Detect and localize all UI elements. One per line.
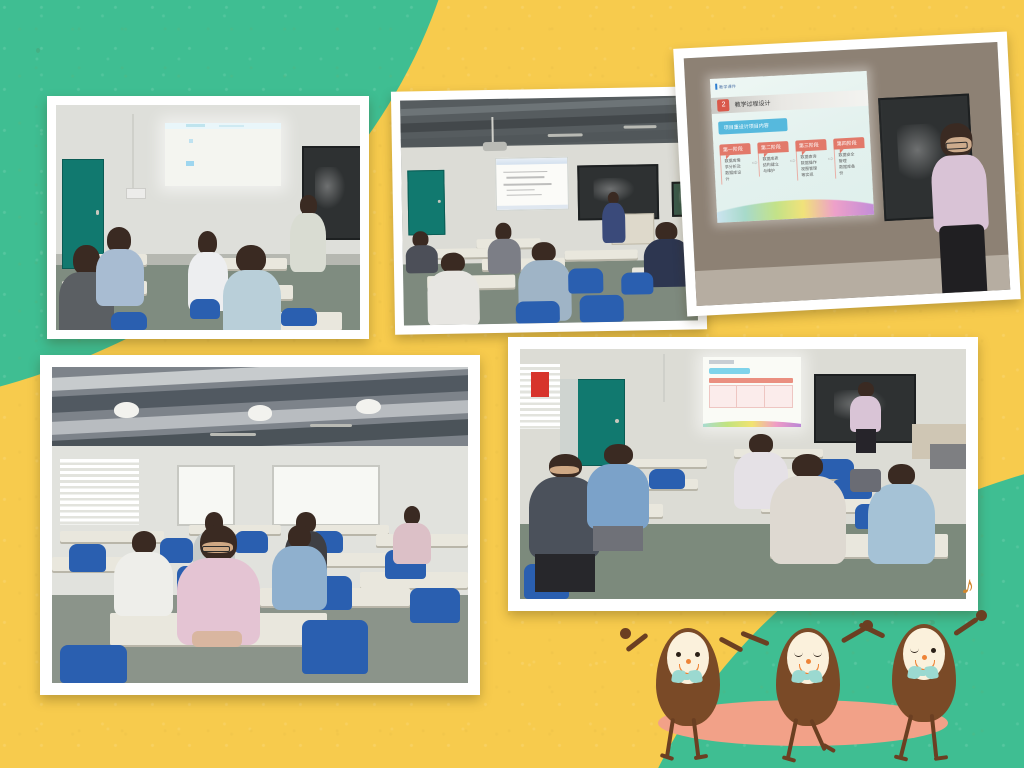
photo-bottom-left[interactable] bbox=[40, 355, 480, 695]
slide-section-number: 2 bbox=[717, 99, 730, 112]
slide-stage-body: 数据查询 数据操作 视图管理 等实现 bbox=[796, 151, 828, 182]
photo-top-right-image: 教学课件 2 教学过程设计 项目重设计项目内容 第一阶段 数据库需 求分析及 bbox=[684, 42, 1011, 306]
bowtie-icon bbox=[792, 670, 822, 683]
slide-stage-body: 数据库需 求分析及 数据库设 计 bbox=[720, 154, 752, 185]
mascot-eye-closed-icon bbox=[794, 652, 803, 657]
mascot-left bbox=[650, 618, 726, 726]
slide-stage-arrow: ⇨ bbox=[790, 157, 796, 165]
photo-bottom-left-image bbox=[52, 367, 468, 683]
photo-top-middle[interactable] bbox=[391, 86, 707, 334]
slide-section-header: 2 教学过程设计 bbox=[711, 90, 869, 114]
slide-logo: 教学课件 bbox=[715, 83, 737, 91]
mascot-eye-icon bbox=[676, 652, 681, 657]
slide-stage: 第三阶段 数据查询 数据操作 视图管理 等实现 bbox=[796, 140, 828, 182]
mascot-eye-icon bbox=[931, 648, 936, 653]
mascot-right bbox=[886, 614, 962, 722]
projected-slide: 教学课件 2 教学过程设计 项目重设计项目内容 第一阶段 数据库需 求分析及 bbox=[710, 71, 874, 223]
photo-bottom-right[interactable] bbox=[508, 337, 978, 611]
slide-stage-arrow: ⇨ bbox=[752, 159, 758, 167]
mascot-middle bbox=[770, 618, 846, 726]
photo-bottom-right-image bbox=[520, 349, 966, 599]
slide-stage: 第二阶段 数据库表 结构建立 与维护 bbox=[758, 142, 790, 184]
mascot-eye-icon bbox=[695, 652, 700, 657]
slide-stage-arrow: ⇨ bbox=[828, 155, 834, 163]
slide-stage-tag: 第一阶段 bbox=[720, 144, 751, 157]
slide-stage-tag: 第四阶段 bbox=[834, 138, 865, 151]
slide-subtitle: 项目重设计项目内容 bbox=[718, 118, 788, 135]
foreground-attendee bbox=[177, 525, 260, 664]
photo-top-right[interactable]: 教学课件 2 教学过程设计 项目重设计项目内容 第一阶段 数据库需 求分析及 bbox=[673, 31, 1021, 316]
mascot-eye-closed-icon bbox=[813, 652, 822, 657]
slide-stage-body: 数据库表 结构建立 与维护 bbox=[758, 153, 789, 178]
photo-top-left[interactable] bbox=[47, 96, 369, 339]
slide-stage-body: 数据安全 管理 数据库备 份 bbox=[834, 149, 866, 180]
bowtie-icon bbox=[908, 666, 938, 679]
bowtie-icon bbox=[672, 670, 702, 683]
slide-stage: 第一阶段 数据库需 求分析及 数据库设 计 bbox=[720, 144, 752, 186]
mascot-group: ♪ bbox=[640, 590, 980, 768]
slide-section-title: 教学过程设计 bbox=[734, 98, 770, 109]
paper-speck bbox=[36, 48, 40, 53]
slide-stage-tag: 第二阶段 bbox=[758, 142, 789, 155]
presenter-figure bbox=[926, 122, 994, 294]
presenter-figure-rear bbox=[850, 382, 881, 452]
photo-top-left-image bbox=[56, 105, 360, 330]
collage-canvas: 教学课件 2 教学过程设计 项目重设计项目内容 第一阶段 数据库需 求分析及 bbox=[0, 0, 1024, 768]
slide-stage-tag: 第三阶段 bbox=[796, 140, 827, 153]
mascot-eye-wink-icon bbox=[910, 648, 919, 653]
slide-stage: 第四阶段 数据安全 管理 数据库备 份 bbox=[834, 138, 866, 180]
photo-top-middle-image bbox=[400, 95, 698, 325]
